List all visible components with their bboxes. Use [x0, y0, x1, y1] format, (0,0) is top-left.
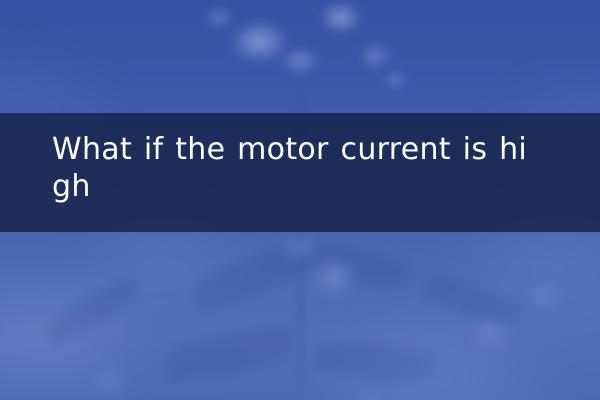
screenshot-root: What if the motor current is hi gh [0, 0, 600, 400]
caption-banner: What if the motor current is hi gh [0, 113, 600, 232]
caption-text: What if the motor current is hi gh [52, 131, 586, 205]
